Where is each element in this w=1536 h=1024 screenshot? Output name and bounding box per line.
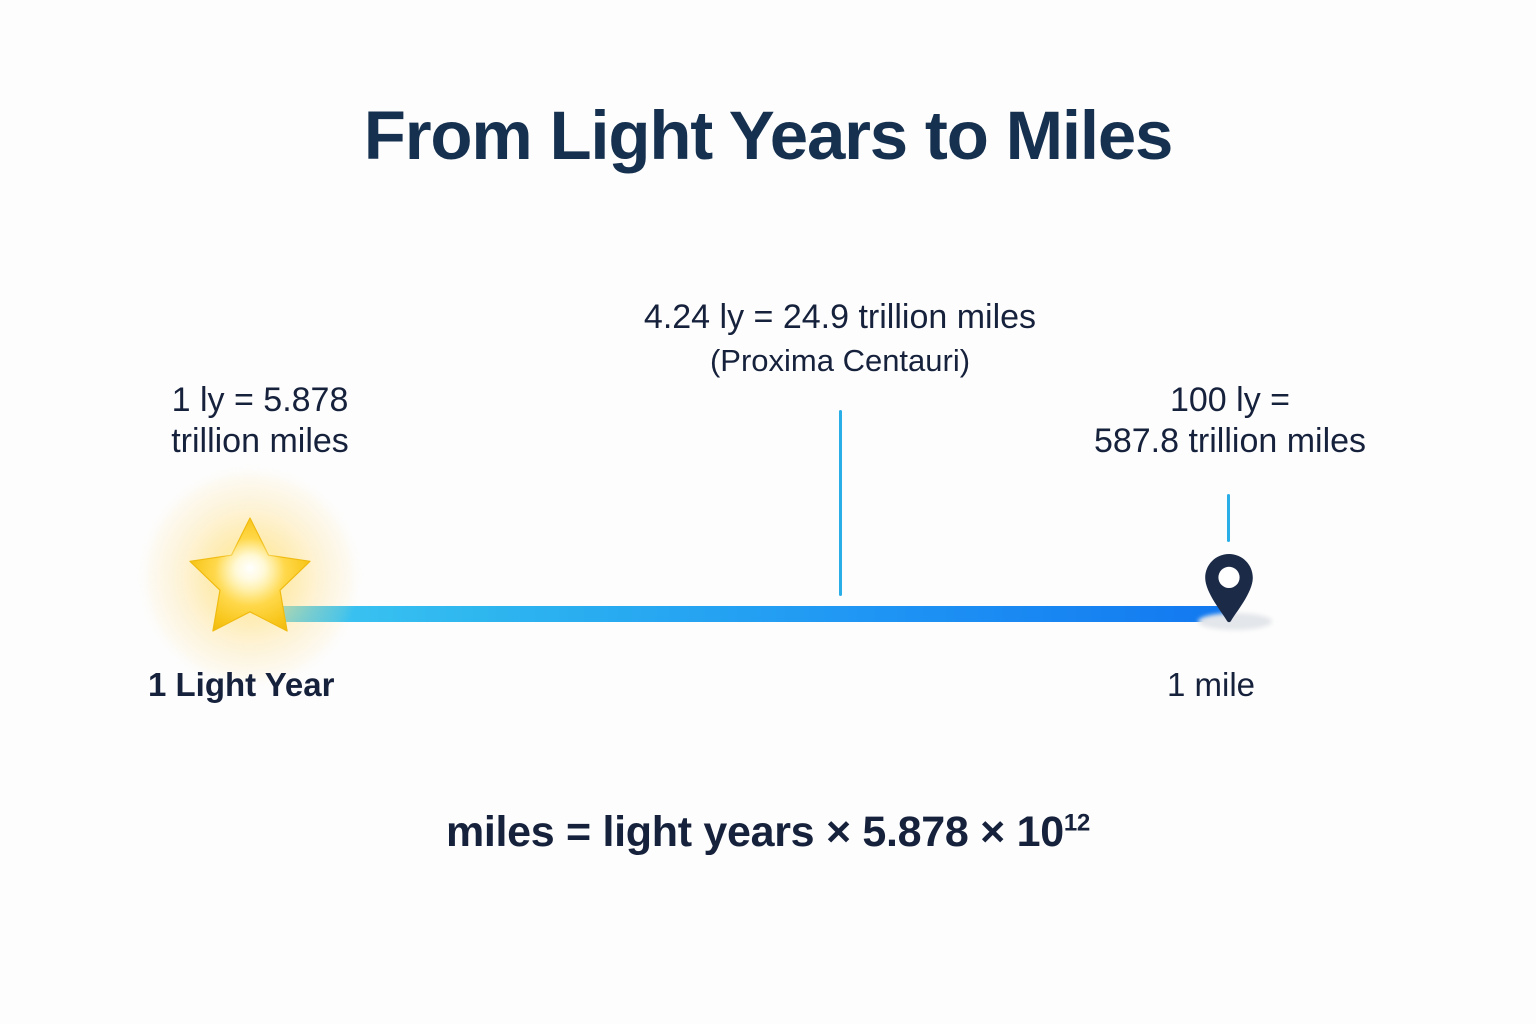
star-icon (188, 512, 312, 636)
annotation-right-line1: 100 ly = (1020, 380, 1440, 421)
annotation-center-subtitle: (Proxima Centauri) (545, 342, 1135, 380)
annotation-right-line2: 587.8 trillion miles (1020, 421, 1440, 462)
annotation-right: 100 ly = 587.8 trillion miles (1020, 380, 1440, 463)
annotation-left-line2: trillion miles (90, 421, 430, 462)
page-title: From Light Years to Miles (0, 96, 1536, 175)
endpoint-label-right: 1 mile (1167, 666, 1255, 704)
annotation-left: 1 ly = 5.878 trillion miles (90, 380, 430, 463)
conversion-formula: miles = light years × 5.878 × 1012 (0, 808, 1536, 857)
connector-tick-right (1227, 494, 1230, 542)
annotation-center-line1: 4.24 ly = 24.9 trillion miles (545, 297, 1135, 338)
annotation-center: 4.24 ly = 24.9 trillion miles (Proxima C… (545, 297, 1135, 380)
endpoint-label-left: 1 Light Year (148, 666, 334, 704)
annotation-left-line1: 1 ly = 5.878 (90, 380, 430, 421)
formula-base: miles = light years × 5.878 × 10 (446, 808, 1064, 856)
connector-tick-center (839, 410, 842, 596)
map-pin-icon (1202, 552, 1256, 624)
formula-exponent: 12 (1064, 810, 1090, 837)
scale-axis-line (268, 606, 1230, 622)
infographic-canvas: From Light Years to Miles 1 ly = 5.878 t… (0, 0, 1536, 1024)
